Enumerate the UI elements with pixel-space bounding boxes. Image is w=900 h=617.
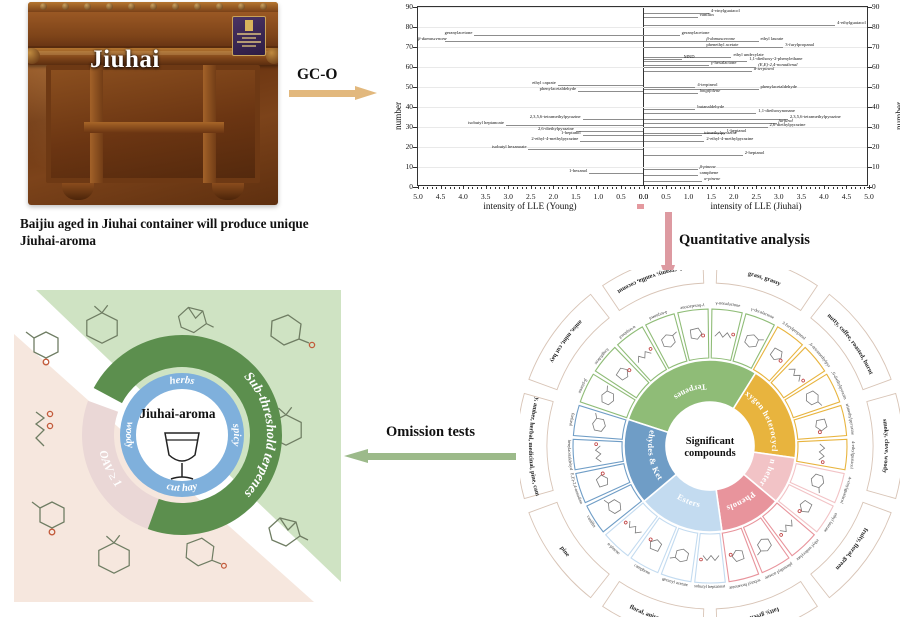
chart-bar-left [589, 173, 643, 174]
chart-x-minor-tick [454, 187, 455, 189]
gco-chart-panel: 001010202030304040505060607070808090905.… [389, 0, 900, 215]
chart-bar-right [644, 181, 703, 182]
chart-x-tick [711, 185, 712, 189]
chart-x-minor-tick [535, 187, 536, 189]
chart-x-minor-tick [860, 187, 861, 189]
chart-x-minor-tick [540, 187, 541, 189]
chart-x-minor-tick [499, 187, 500, 189]
chart-x-minor-tick [495, 187, 496, 189]
chart-ylabel-left: number [393, 102, 403, 130]
chart-bar-right [644, 113, 757, 114]
chart-x-minor-tick [634, 187, 635, 189]
chart-x-tick [779, 185, 780, 189]
chart-x-minor-tick [589, 187, 590, 189]
chart-y-tick-label: 80 [394, 22, 413, 31]
chart-y-tick-label: 30 [872, 122, 891, 131]
chart-gridline [418, 7, 867, 8]
chart-bar-left [528, 149, 643, 150]
chart-bar-right [644, 169, 698, 170]
chart-x-minor-tick [450, 187, 451, 189]
chart-y-tick [413, 107, 418, 108]
chart-y-tick [413, 67, 418, 68]
chart-x-minor-tick [774, 187, 775, 189]
chart-x-minor-tick [427, 187, 428, 189]
chart-x-tick [598, 185, 599, 189]
chart-x-tick [734, 185, 735, 189]
chart-x-tick [824, 185, 825, 189]
chart-bar-label-right: 2-ethyl-4-methylpyrazine [706, 137, 753, 142]
chart-y-tick-label: 70 [872, 42, 891, 51]
chart-x-minor-tick [612, 187, 613, 189]
chart-y-tick [413, 7, 418, 8]
chart-x-minor-tick [693, 187, 694, 189]
chart-bar-label-left: isobutyl heptanoate [418, 121, 506, 126]
chart-x-tick-label: 5.0 [856, 192, 882, 201]
chart-y-tick-label: 70 [394, 42, 413, 51]
chart-x-minor-tick [698, 187, 699, 189]
chart-bar-label-left: 1-heptanol [418, 131, 583, 136]
chart-bar-right [644, 67, 757, 68]
chart-y-tick-label: 0 [394, 182, 413, 191]
chart-x-minor-tick [567, 187, 568, 189]
chart-x-minor-tick [571, 187, 572, 189]
chart-x-minor-tick [716, 187, 717, 189]
chart-bar-label-left: β-damascenone [418, 37, 445, 42]
chart-y-tick [413, 47, 418, 48]
chart-x-minor-tick [765, 187, 766, 189]
chart-xlabel-left: intensity of LLE (Young) [417, 201, 643, 211]
chart-x-minor-tick [544, 187, 545, 189]
chart-x-tick [666, 185, 667, 189]
chart-x-minor-tick [702, 187, 703, 189]
terpene-structure-icon [186, 538, 226, 568]
chart-x-tick [689, 185, 690, 189]
chart-x-tick [553, 185, 554, 189]
chart-x-minor-tick [549, 187, 550, 189]
jiuhai-caption: Baijiu aged in Jiuhai container will pro… [20, 215, 340, 250]
chart-bar-right [644, 17, 698, 18]
chart-bar-right [644, 175, 698, 176]
chart-x-minor-tick [607, 187, 608, 189]
chart-x-tick [508, 185, 509, 189]
chart-x-minor-tick [828, 187, 829, 189]
chart-x-minor-tick [522, 187, 523, 189]
chart-bar-label-left: 2-ethyl-4-methylpyrazine [418, 137, 580, 142]
chart-x-minor-tick [445, 187, 446, 189]
chart-y-tick-label: 20 [394, 142, 413, 151]
jiuhai-container-image [28, 2, 278, 205]
chart-bar-label-right: α-pinene [704, 177, 720, 182]
chart-bar-label-right: 2,6-diethylpyrazine [770, 123, 806, 128]
chart-x-minor-tick [436, 187, 437, 189]
chart-x-tick [846, 185, 847, 189]
chart-x-minor-tick [603, 187, 604, 189]
omission-arrow-head [344, 449, 368, 463]
chart-y-tick-label: 60 [872, 62, 891, 71]
wheel-center-title: Significant [686, 436, 735, 447]
chart-x-tick [869, 185, 870, 189]
chart-x-minor-tick [423, 187, 424, 189]
chart-x-minor-tick [526, 187, 527, 189]
gco-arrow-head [355, 86, 377, 100]
chart-x-minor-tick [477, 187, 478, 189]
chart-bar-label-right: phenethyl acetate [706, 43, 738, 48]
chart-x-minor-tick [662, 187, 663, 189]
chart-center-axis [643, 7, 644, 185]
chart-x-tick [576, 185, 577, 189]
chart-bar-right [644, 87, 696, 88]
chart-x-minor-tick [752, 187, 753, 189]
chart-bar-right [644, 41, 705, 42]
chart-bar-label-right: β-pinene [700, 165, 716, 170]
chart-x-minor-tick [585, 187, 586, 189]
chart-bar-label-right: β-damascenone [706, 37, 735, 42]
chart-x-minor-tick [639, 187, 640, 189]
terpene-structure-icon [99, 535, 129, 573]
quantitative-analysis-label: Quantitative analysis [679, 232, 810, 249]
chart-bar-right [644, 119, 788, 120]
chart-x-minor-tick [806, 187, 807, 189]
chart-x-minor-tick [833, 187, 834, 189]
chart-y-tick-label: 50 [394, 82, 413, 91]
chart-y-tick-label: 60 [394, 62, 413, 71]
chart-x-minor-tick [481, 187, 482, 189]
chart-x-minor-tick [594, 187, 595, 189]
chart-x-minor-tick [675, 187, 676, 189]
chart-gridline [418, 107, 867, 108]
chart-x-tick [441, 185, 442, 189]
chart-x-minor-tick [819, 187, 820, 189]
chart-bar-label-right: 2-heptanol [745, 151, 765, 156]
chart-bar-right [644, 127, 768, 128]
chart-x-minor-tick [432, 187, 433, 189]
chart-y-tick [413, 167, 418, 168]
jiuhai-shelf [84, 122, 224, 133]
chart-x-minor-tick [747, 187, 748, 189]
wheel-compound-label: γ-nonalactone [715, 300, 740, 308]
chart-bar-right [644, 123, 777, 124]
chart-x-tick [644, 185, 645, 189]
chart-bar-right [644, 135, 703, 136]
chart-bar-label-right: 3-furylpropanal [785, 43, 814, 48]
chart-xlabel-right: intensity of LLE (Jiuhai) [643, 201, 869, 211]
chart-bar-right [644, 25, 836, 26]
chart-x-minor-tick [783, 187, 784, 189]
chart-legend-swatch [637, 204, 644, 209]
inner-ring-label: herbs [169, 375, 196, 387]
chart-bar-label-right: camphene [700, 171, 719, 176]
chart-x-tick [756, 185, 757, 189]
chart-x-tick [531, 185, 532, 189]
chart-bar-label-right: 1,1-diethoxynonane [758, 109, 795, 114]
chart-bar-left [583, 135, 644, 136]
chart-x-minor-tick [707, 187, 708, 189]
chart-ylabel-right: number [894, 102, 900, 130]
gco-arrow [289, 86, 377, 100]
chart-bar-label-right: 4-ethylguaiacol [837, 21, 866, 26]
chart-x-minor-tick [855, 187, 856, 189]
chart-bar-label-right: phenylacetaldehyde [761, 85, 797, 90]
chart-gridline [418, 167, 867, 168]
chart-x-minor-tick [851, 187, 852, 189]
chart-x-minor-tick [562, 187, 563, 189]
wheel-compound-label: 4-ethylguaiacol [849, 441, 856, 470]
jiuhai-foot-right [212, 183, 244, 200]
chart-x-minor-tick [810, 187, 811, 189]
chart-bar-label-left: 1-hexanol [418, 169, 589, 174]
jiuhai-title: Jiuhai [0, 46, 250, 74]
wheel-descriptor-cell[interactable] [529, 294, 609, 389]
chart-x-minor-tick [558, 187, 559, 189]
chart-bar-label-right: geranylacetone [682, 31, 710, 36]
chart-bar-left [474, 35, 643, 36]
gco-arrow-label: GC-O [297, 66, 337, 84]
chart-x-minor-tick [616, 187, 617, 189]
chart-gridline [418, 67, 867, 68]
chart-bar-label-right: MND [684, 55, 695, 60]
chart-x-minor-tick [743, 187, 744, 189]
chart-bar-right [644, 141, 705, 142]
omission-tests-arrow [344, 449, 516, 463]
chart-bar-label-right: trimethylpyrazine [704, 131, 737, 136]
chart-bar-right [644, 109, 696, 110]
chart-x-minor-tick [815, 187, 816, 189]
chart-bar-left [580, 141, 643, 142]
chart-gridline [418, 27, 867, 28]
chart-bar-label-right: vanillin [700, 13, 714, 18]
chart-bar-label-right: 2,3,5,6-tetramethylpyrazine [790, 115, 841, 120]
chart-y-tick-label: 90 [872, 2, 891, 11]
chart-bar-label-right: ethyl laurate [761, 37, 784, 42]
chart-x-minor-tick [738, 187, 739, 189]
terpene-structure-icon [87, 305, 117, 343]
inner-ring-label: woody [123, 421, 136, 450]
chart-bar-label-right: longifolene [700, 89, 721, 94]
chart-x-tick [463, 185, 464, 189]
jiuhai-foot-left [62, 183, 94, 200]
chart-bar-label-left: isobutyl hexanoate [418, 145, 528, 150]
chart-y-tick [413, 27, 418, 28]
chart-x-minor-tick [720, 187, 721, 189]
gco-chart-plot: 001010202030304040505060607070808090905.… [417, 6, 868, 186]
jiuhai-studs [28, 3, 278, 11]
chart-x-minor-tick [648, 187, 649, 189]
chart-x-minor-tick [653, 187, 654, 189]
chart-x-minor-tick [842, 187, 843, 189]
chart-x-minor-tick [725, 187, 726, 189]
jiuhai-aroma-ring-svg: OAV ≥ 1Sub-threshold terpenesherbsspicyc… [14, 290, 341, 602]
chart-x-minor-tick [513, 187, 514, 189]
chart-x-minor-tick [671, 187, 672, 189]
chart-x-minor-tick [770, 187, 771, 189]
omission-tests-label: Omission tests [386, 424, 475, 441]
terpene-structure-icon [271, 315, 315, 348]
chart-y-tick-label: 20 [872, 142, 891, 151]
gco-arrow-shaft [289, 90, 357, 97]
chart-bar-label-right: 4-terpineol [697, 83, 717, 88]
inner-ring-label: spicy [230, 422, 242, 447]
chart-bar-label-right: γ-hexalactone [711, 61, 737, 66]
chart-bar-label-right: butanaldehyde [697, 105, 724, 110]
chart-x-minor-tick [788, 187, 789, 189]
chart-x-minor-tick [684, 187, 685, 189]
chart-bar-label-right: α-terpineol [754, 67, 775, 72]
chart-x-minor-tick [797, 187, 798, 189]
oav-panel: OAV ≥ 1Sub-threshold terpenesherbsspicyc… [14, 290, 341, 602]
omission-arrow-shaft [368, 453, 516, 460]
quant-arrow-shaft [665, 212, 672, 267]
jiuhai-knob-right [266, 48, 278, 64]
chart-bar-left [445, 41, 643, 42]
chart-y-tick-label: 50 [872, 82, 891, 91]
chart-bar-left [583, 119, 644, 120]
chart-x-minor-tick [729, 187, 730, 189]
chart-bar-right [644, 93, 698, 94]
chart-y-tick-label: 10 [394, 162, 413, 171]
chart-bar-label-left: geranylacetone [418, 31, 474, 36]
wheel-descriptor-cell[interactable] [603, 581, 704, 617]
chart-x-minor-tick [517, 187, 518, 189]
chart-bar-label-right: 1,1-diethoxy-2-phenylethane [749, 57, 802, 62]
wheel-center-subtitle: compounds [684, 448, 735, 459]
chart-x-tick [418, 185, 419, 189]
chart-x-minor-tick [761, 187, 762, 189]
chart-x-minor-tick [864, 187, 865, 189]
chart-y-tick-label: 40 [872, 102, 891, 111]
chart-bar-label-left: ethyl caprate [418, 81, 558, 86]
chart-x-minor-tick [657, 187, 658, 189]
jiuhai-aroma-center-title: Jiuhai-aroma [14, 406, 341, 422]
chart-bar-right [644, 71, 752, 72]
terpene-structure-icon [179, 307, 214, 332]
chart-x-minor-tick [792, 187, 793, 189]
chart-x-minor-tick [459, 187, 460, 189]
chart-y-tick-label: 90 [394, 2, 413, 11]
chart-x-tick [801, 185, 802, 189]
aroma-wheel-svg: TerpenesOxygen heterocyclesNitrogen hete… [520, 270, 900, 617]
chart-bar-label-left: phenylacetaldehyde [418, 87, 578, 92]
chart-x-minor-tick [490, 187, 491, 189]
chart-y-tick-label: 10 [872, 162, 891, 171]
wheel-compound-cell[interactable] [695, 533, 726, 583]
chart-y-tick-label: 0 [872, 182, 891, 191]
aroma-wheel-panel: TerpenesOxygen heterocyclesNitrogen hete… [520, 270, 900, 617]
chart-bar-right [644, 35, 680, 36]
chart-bar-label-right: 4-vinylguaiacol [711, 9, 740, 14]
chart-x-minor-tick [580, 187, 581, 189]
chart-x-minor-tick [468, 187, 469, 189]
chart-bar-right [644, 47, 705, 48]
chart-x-minor-tick [837, 187, 838, 189]
chart-x-tick [486, 185, 487, 189]
chart-x-minor-tick [625, 187, 626, 189]
chart-x-minor-tick [504, 187, 505, 189]
chart-bar-left [578, 91, 643, 92]
chart-x-minor-tick [472, 187, 473, 189]
chart-y-tick-label: 80 [872, 22, 891, 31]
chart-bar-right [644, 155, 743, 156]
chart-bar-right [644, 65, 709, 66]
chart-bar-left [576, 131, 644, 132]
chart-bar-left [506, 125, 644, 126]
chart-x-tick [621, 185, 622, 189]
chart-x-minor-tick [680, 187, 681, 189]
jiuhai-photo-panel: Jiuhai Baijiu aged in Jiuhai container w… [0, 0, 385, 280]
chart-bar-right [644, 59, 682, 60]
oav-structure-icon [32, 502, 64, 535]
chart-x-minor-tick [630, 187, 631, 189]
chart-bar-label-left: 2,3,5,6-tetramethylpyrazine [418, 115, 583, 120]
